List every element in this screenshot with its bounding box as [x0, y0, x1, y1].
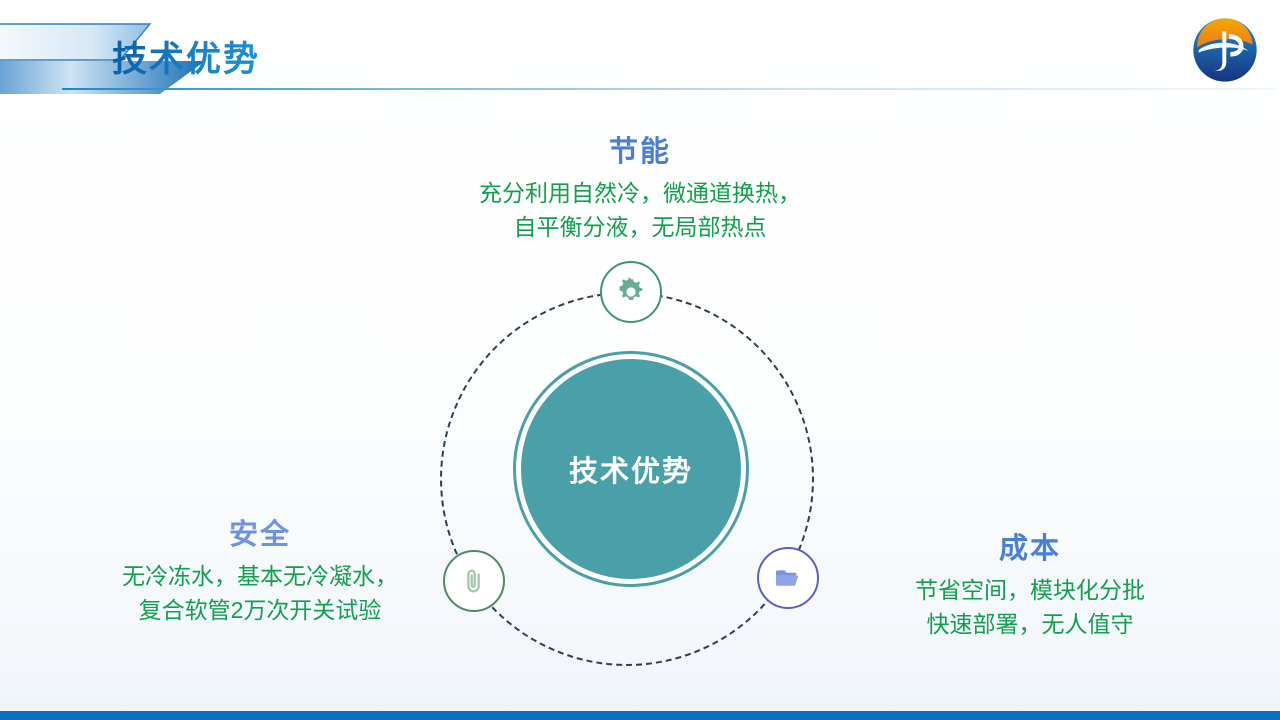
gear-icon — [615, 276, 647, 308]
slide: 技术优势 技术优势 — [0, 0, 1280, 720]
folder-icon — [772, 562, 804, 594]
core-label: 技术优势 — [569, 448, 693, 490]
block-energy-heading: 节能 — [330, 136, 950, 169]
block-safety-heading: 安全 — [40, 519, 480, 552]
core-circle: 技术优势 — [521, 359, 741, 579]
block-safety: 安全 无冷冻水，基本无冷凝水， 复合软管2万次开关试验 — [40, 519, 480, 627]
block-cost: 成本 节省空间，模块化分批 快速部署，无人值守 — [810, 533, 1250, 641]
block-energy-body: 充分利用自然冷，微通道换热， 自平衡分液，无局部热点 — [330, 177, 950, 244]
footer-bar — [0, 711, 1280, 720]
company-logo — [1192, 17, 1258, 83]
node-energy[interactable] — [600, 261, 662, 323]
block-safety-body: 无冷冻水，基本无冷凝水， 复合软管2万次开关试验 — [40, 560, 480, 627]
block-cost-heading: 成本 — [810, 533, 1250, 566]
header-divider — [62, 88, 1277, 90]
page-title: 技术优势 — [112, 31, 260, 82]
block-energy: 节能 充分利用自然冷，微通道换热， 自平衡分液，无局部热点 — [330, 136, 950, 244]
block-cost-body: 节省空间，模块化分批 快速部署，无人值守 — [810, 574, 1250, 641]
